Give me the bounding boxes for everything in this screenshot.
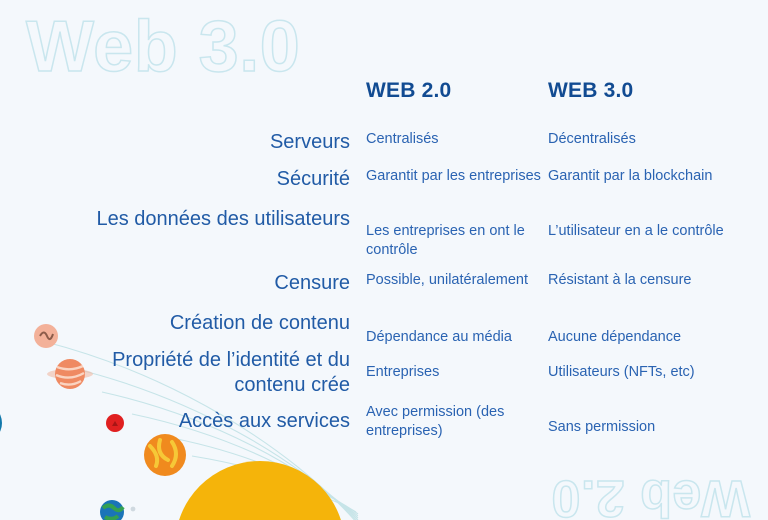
cell-web2: Dépendance au média xyxy=(366,328,551,347)
cell-web3: Garantit par la blockchain xyxy=(548,167,748,186)
cell-web3: Utilisateurs (NFTs, etc) xyxy=(548,363,748,382)
infographic-canvas: Web 3.0 xyxy=(0,0,768,520)
row-label: Les données des utilisateurs xyxy=(40,207,350,232)
comparison-table: WEB 2.0 WEB 3.0 Serveurs Centralisés Déc… xyxy=(0,0,768,520)
cell-web2: Entreprises xyxy=(366,363,541,382)
cell-web3: Aucune dépendance xyxy=(548,328,748,347)
cell-web3: Sans permission xyxy=(548,418,748,437)
cell-web2: Garantit par les entreprises xyxy=(366,167,541,186)
cell-web2: Centralisés xyxy=(366,130,541,149)
row-label: Censure xyxy=(40,271,350,296)
row-label: Propriété de l’identité et du contenu cr… xyxy=(40,348,350,398)
row-label: Serveurs xyxy=(40,130,350,155)
row-label: Création de contenu xyxy=(40,311,350,336)
cell-web3: Décentralisés xyxy=(548,130,748,149)
cell-web2: Possible, unilatéralement xyxy=(366,271,541,290)
column-header-web3: WEB 3.0 xyxy=(548,79,633,103)
row-label: Sécurité xyxy=(40,167,350,192)
cell-web2: Les entreprises en ont le contrôle xyxy=(366,222,541,260)
cell-web3: L’utilisateur en a le contrôle xyxy=(548,222,748,241)
cell-web2: Avec permission (des entreprises) xyxy=(366,403,551,441)
column-header-web2: WEB 2.0 xyxy=(366,79,451,103)
cell-web3: Résistant à la censure xyxy=(548,271,748,290)
row-label: Accès aux services xyxy=(40,409,350,434)
